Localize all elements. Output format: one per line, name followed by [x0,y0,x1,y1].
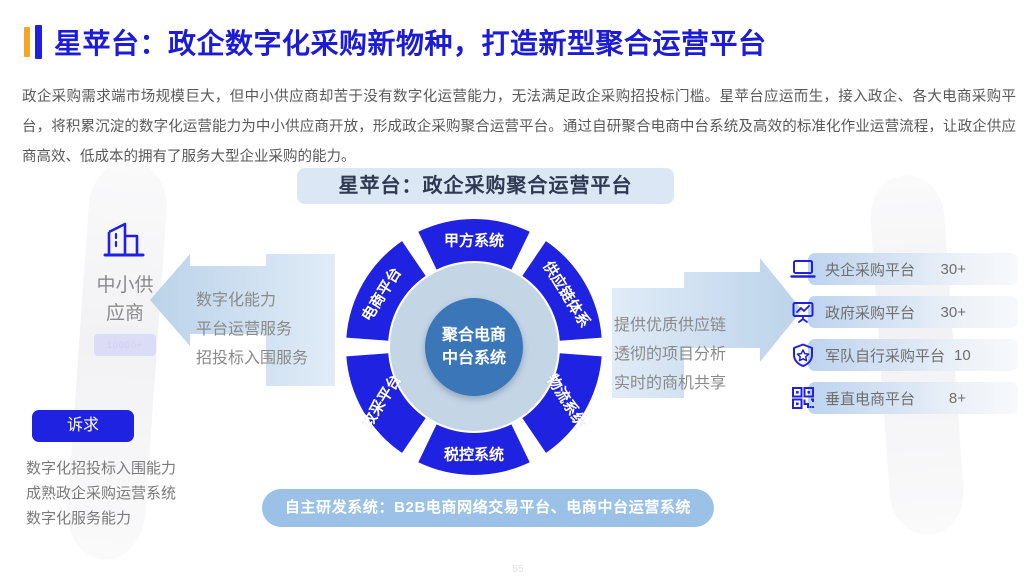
building-icon [103,218,147,260]
platform-label: 央企采购平台 [825,259,915,280]
platform-item-military[interactable]: 军队自行采购平台 10 [786,339,1018,371]
platform-title-banner: 星苹台：政企采购聚合运营平台 [297,168,674,204]
arrow-left-text: 数字化能力 平台运营服务 招投标入围服务 [196,286,308,373]
arrow-left-line: 数字化能力 [196,286,308,315]
demand-item: 成熟政企采购运营系统 [26,481,176,506]
chart-board-icon [790,299,816,325]
demand-list: 数字化招投标入围能力 成熟政企采购运营系统 数字化服务能力 [26,456,176,531]
platform-item-central-enterprise[interactable]: 央企采购平台 30+ [786,253,1018,285]
page-title: 星苹台：政企数字化采购新物种，打造新型聚合运营平台 [54,22,767,62]
sme-count-badge: 10000+ [94,334,156,356]
arrow-left-line: 平台运营服务 [196,315,308,344]
platform-count: 8+ [949,390,966,407]
donut-diagram: 聚合电商 中台系统 甲方系统供应链体系物流系统税控系统政采平台电商平台 [345,218,603,476]
platform-label: 垂直电商平台 [825,388,915,409]
title-accent-bars [24,25,42,59]
arrow-right-line: 透彻的项目分析 [614,340,726,369]
page-header: 星苹台：政企数字化采购新物种，打造新型聚合运营平台 [24,22,767,62]
arrow-right-line: 提供优质供应链 [614,311,726,340]
donut-segment-label: 税控系统 [444,444,504,465]
self-developed-system-banner: 自主研发系统：B2B电商网络交易平台、电商中台运营系统 [262,489,714,527]
platform-item-government[interactable]: 政府采购平台 30+ [786,296,1018,328]
platform-item-vertical-ecommerce[interactable]: 垂直电商平台 8+ [786,382,1018,414]
accent-bar-yellow [24,27,30,57]
platform-label: 政府采购平台 [825,302,915,323]
platform-label: 军队自行采购平台 [825,345,945,366]
arrow-right-text: 提供优质供应链 透彻的项目分析 实时的商机共享 [614,311,726,398]
platform-count: 10 [954,347,971,364]
sme-label-line2: 应商 [70,300,180,328]
platform-count: 30+ [941,261,966,278]
intro-paragraph: 政企采购需求端市场规模巨大，但中小供应商却苦于没有数字化运营能力，无法满足政企采… [22,82,1016,172]
donut-center-hub: 聚合电商 中台系统 [425,298,523,396]
arrow-right-line: 实时的商机共享 [614,369,726,398]
donut-segment-label: 甲方系统 [444,230,504,251]
slide-canvas: 星苹台：政企数字化采购新物种，打造新型聚合运营平台 政企采购需求端市场规模巨大，… [0,0,1036,584]
demand-badge: 诉求 [32,410,134,442]
shield-star-icon [790,342,816,368]
hub-line2: 中台系统 [442,347,506,370]
accent-bar-blue [35,25,42,59]
sme-block: 中小供 应商 10000+ [70,218,180,356]
demand-item: 数字化招投标入围能力 [26,456,176,481]
platform-list: 央企采购平台 30+ 政府采购平台 30+ 军队自行采购平台 10 [786,253,1018,425]
demand-item: 数字化服务能力 [26,506,176,531]
platform-count: 30+ [941,304,966,321]
arrow-left-line: 招投标入围服务 [196,344,308,373]
sme-label-line1: 中小供 [70,272,180,300]
hub-line1: 聚合电商 [442,324,506,347]
laptop-icon [790,256,816,282]
page-number: 55 [0,564,1036,575]
sme-label: 中小供 应商 [70,272,180,328]
qrcode-icon [790,385,816,411]
